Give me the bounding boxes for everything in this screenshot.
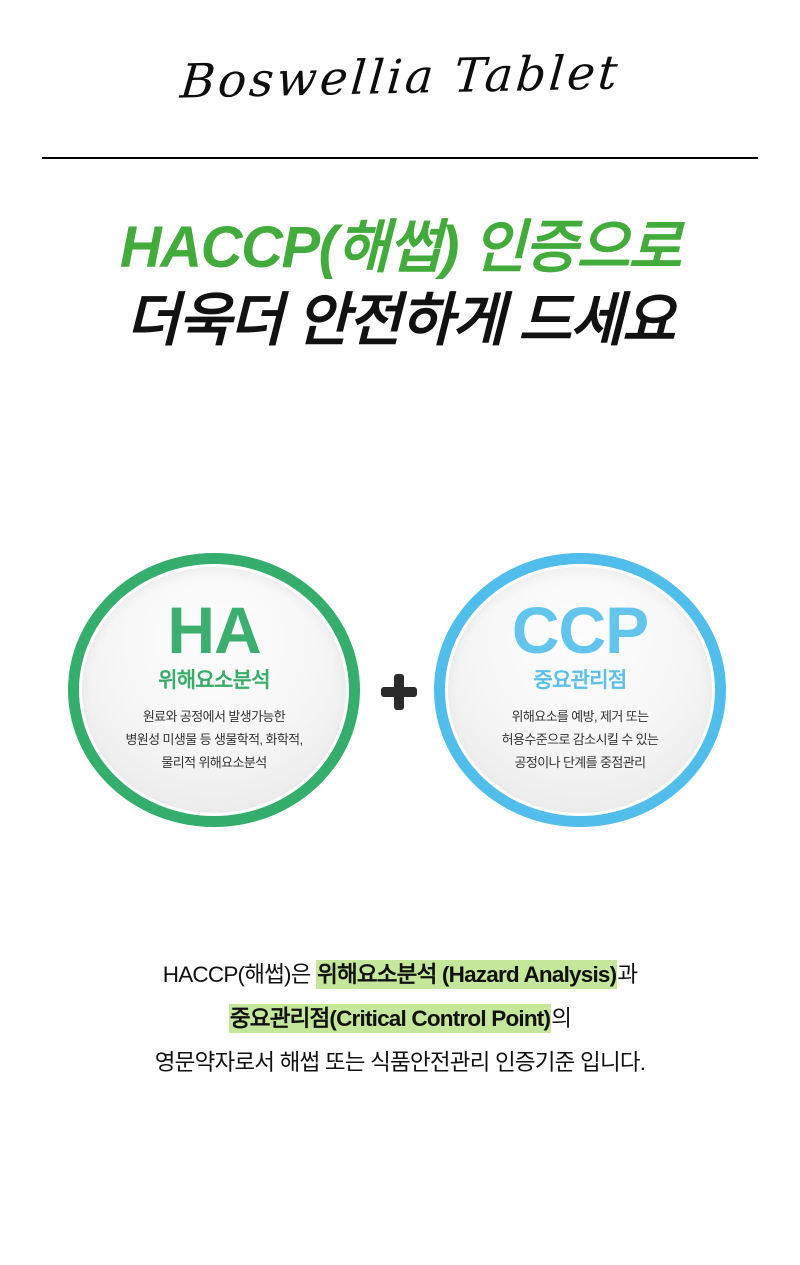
ccp-desc-line-1: 위해요소를 예방, 제거 또는 [445,705,715,728]
haccp-diagram: HA 위해요소분석 원료와 공정에서 발생가능한 병원성 미생물 등 생물학적,… [0,553,800,831]
ha-desc-line-1: 원료와 공정에서 발생가능한 [79,705,349,728]
ccp-subtitle: 중요관리점 [445,666,715,696]
brand-script-title: Boswellia Tablet [178,47,622,108]
definition-line-1-suffix: 과 [617,962,637,987]
definition-line-1-highlight: 위해요소분석 (Hazard Analysis) [316,960,617,989]
definition-line-3: 영문약자로서 해썹 또는 식품안전관리 인증기준 입니다. [0,1041,800,1085]
ccp-circle-content: CCP 중요관리점 위해요소를 예방, 제거 또는 허용수준으로 감소시킬 수 … [445,564,715,774]
brand-divider-rule [42,157,758,159]
ha-desc-line-2: 병원성 미생물 등 생물학적, 화학적, [79,728,349,751]
plus-icon [381,674,417,710]
definition-line-2-suffix: 의 [551,1006,571,1031]
ha-circle-content: HA 위해요소분석 원료와 공정에서 발생가능한 병원성 미생물 등 생물학적,… [79,564,349,774]
definition-line-3-text: 영문약자로서 해썹 또는 식품안전관리 인증기준 입니다. [155,1050,645,1075]
ha-circle: HA 위해요소분석 원료와 공정에서 발생가능한 병원성 미생물 등 생물학적,… [68,553,360,827]
ha-acronym: HA [79,596,349,664]
ccp-circle: CCP 중요관리점 위해요소를 예방, 제거 또는 허용수준으로 감소시킬 수 … [434,553,726,827]
promo-page: Boswellia Tablet HACCP(해썹) 인증으로 더욱더 안전하게… [0,0,800,1265]
headline-line-2: 더욱더 안전하게 드세요 [0,284,800,358]
brand-header: Boswellia Tablet [0,52,800,104]
definition-line-2-highlight: 중요관리점(Critical Control Point) [229,1004,551,1033]
haccp-definition-paragraph: HACCP(해썹)은 위해요소분석 (Hazard Analysis)과 중요관… [0,953,800,1085]
ha-subtitle: 위해요소분석 [79,666,349,696]
ha-desc-line-3: 물리적 위해요소분석 [79,751,349,774]
definition-line-1: HACCP(해썹)은 위해요소분석 (Hazard Analysis)과 [0,953,800,997]
ccp-desc-line-2: 허용수준으로 감소시킬 수 있는 [445,728,715,751]
plus-icon-vertical-bar [394,674,404,710]
headline-block: HACCP(해썹) 인증으로 더욱더 안전하게 드세요 [0,212,800,358]
definition-line-1-prefix: HACCP(해썹)은 [163,962,316,987]
ccp-desc-line-3: 공정이나 단계를 중점관리 [445,751,715,774]
ccp-description: 위해요소를 예방, 제거 또는 허용수준으로 감소시킬 수 있는 공정이나 단계… [445,705,715,774]
ha-description: 원료와 공정에서 발생가능한 병원성 미생물 등 생물학적, 화학적, 물리적 … [79,705,349,774]
ccp-acronym: CCP [445,596,715,664]
definition-line-2: 중요관리점(Critical Control Point)의 [0,997,800,1041]
headline-line-1: HACCP(해썹) 인증으로 [0,212,800,284]
